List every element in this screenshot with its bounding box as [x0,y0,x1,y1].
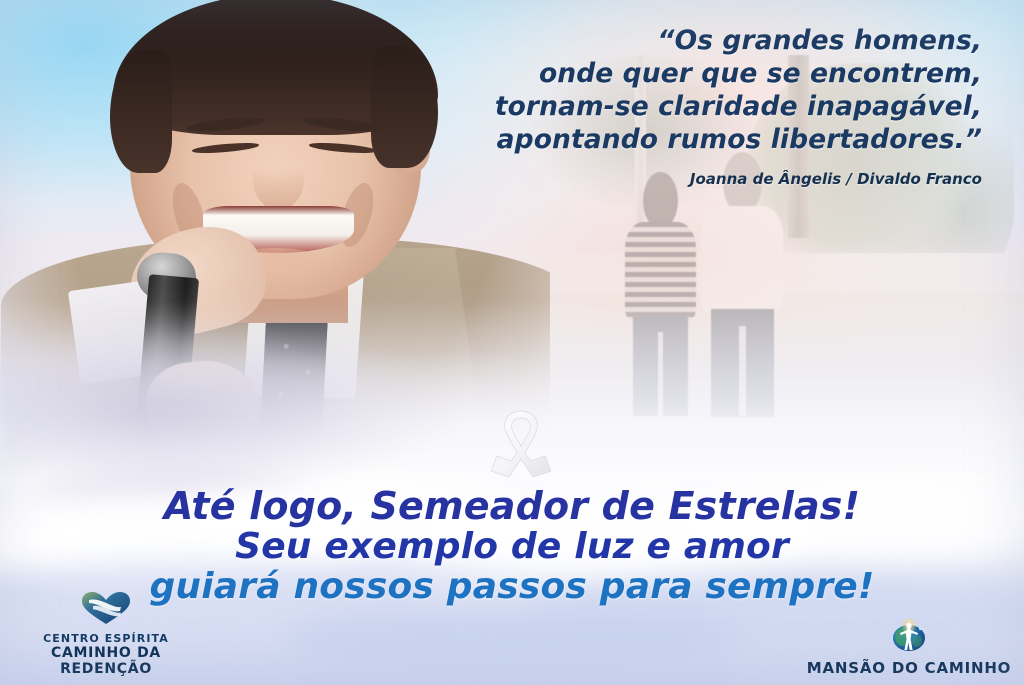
quote-line-2: onde quer que se encontrem, [422,57,982,90]
white-ribbon-icon [487,409,555,481]
quote-line-1: “Os grandes homens, [422,24,982,57]
quote-line-4: apontando rumos libertadores.” [422,123,982,156]
message-line-1: Até logo, Semeador de Estrelas! [0,486,1024,527]
cloud-mist-left [0,301,532,479]
quote-text: “Os grandes homens, onde quer que se enc… [422,24,982,156]
globe-figure-icon [804,617,1014,657]
logo-right-line-1: MANSÃO DO CAMINHO [804,660,1014,677]
memorial-poster: “Os grandes homens, onde quer que se enc… [0,0,1024,685]
portrait-hair-left [110,50,172,172]
portrait-nose [253,149,303,210]
logo-centro-espirita: CENTRO ESPÍRITA CAMINHO DA REDENÇÃO [6,591,206,677]
message-line-2: Seu exemplo de luz e amor [0,527,1024,567]
quote-line-3: tornam-se claridade inapagável, [422,90,982,123]
farewell-message: Até logo, Semeador de Estrelas! Seu exem… [0,486,1024,607]
logo-left-line-2: CAMINHO DA REDENÇÃO [6,645,206,677]
quote-attribution: Joanna de Ângelis / Divaldo Franco [422,170,982,188]
logo-mansao-do-caminho: MANSÃO DO CAMINHO [804,617,1014,677]
heart-hands-icon [6,591,206,629]
cloud-puff [287,608,738,669]
logo-left-line-1: CENTRO ESPÍRITA [6,632,206,645]
